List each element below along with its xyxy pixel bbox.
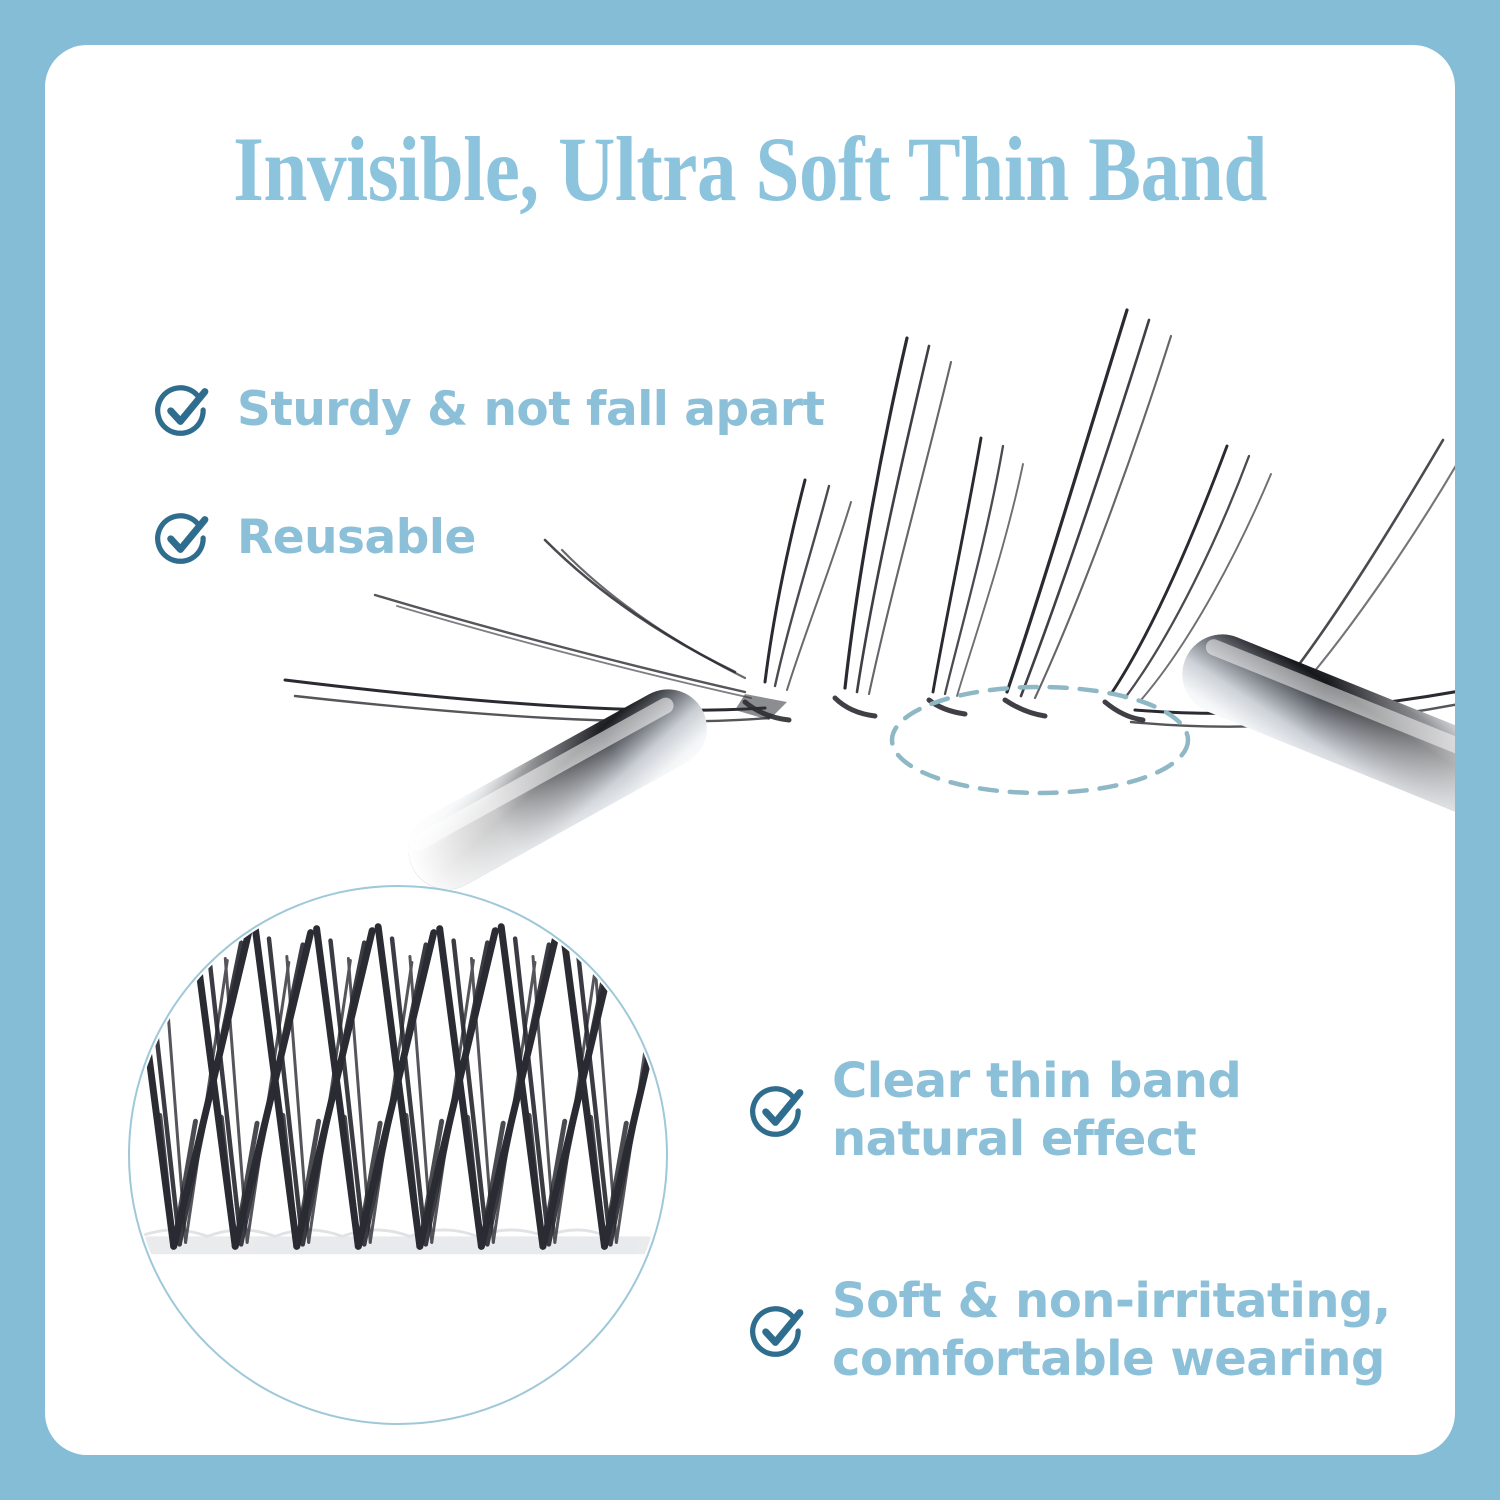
check-circle-icon — [750, 1083, 806, 1139]
feature-label-clear-thin-band: Clear thin band natural effect — [832, 1053, 1241, 1168]
check-circle-icon — [155, 382, 211, 438]
check-circle-icon — [750, 1303, 806, 1359]
lash-band-macro-closeup-photo — [128, 885, 668, 1425]
tweezers-stretching-lash-band-photo — [45, 250, 1455, 890]
feature-item-reusable: Reusable — [155, 510, 476, 566]
feature-item-clear-thin-band: Clear thin band natural effect — [750, 1053, 1241, 1168]
feature-label-reusable: Reusable — [237, 511, 476, 566]
page-title: Invisible, Ultra Soft Thin Band — [144, 123, 1357, 215]
white-content-panel: Invisible, Ultra Soft Thin Band — [45, 45, 1455, 1455]
feature-label-soft-non-irritating: Soft & non-irritating, comfortable weari… — [832, 1273, 1391, 1388]
check-circle-icon — [155, 510, 211, 566]
feature-item-sturdy: Sturdy & not fall apart — [155, 382, 825, 438]
infographic-canvas: Invisible, Ultra Soft Thin Band — [0, 0, 1500, 1500]
feature-label-sturdy: Sturdy & not fall apart — [237, 383, 825, 438]
feature-item-soft-non-irritating: Soft & non-irritating, comfortable weari… — [750, 1273, 1391, 1388]
